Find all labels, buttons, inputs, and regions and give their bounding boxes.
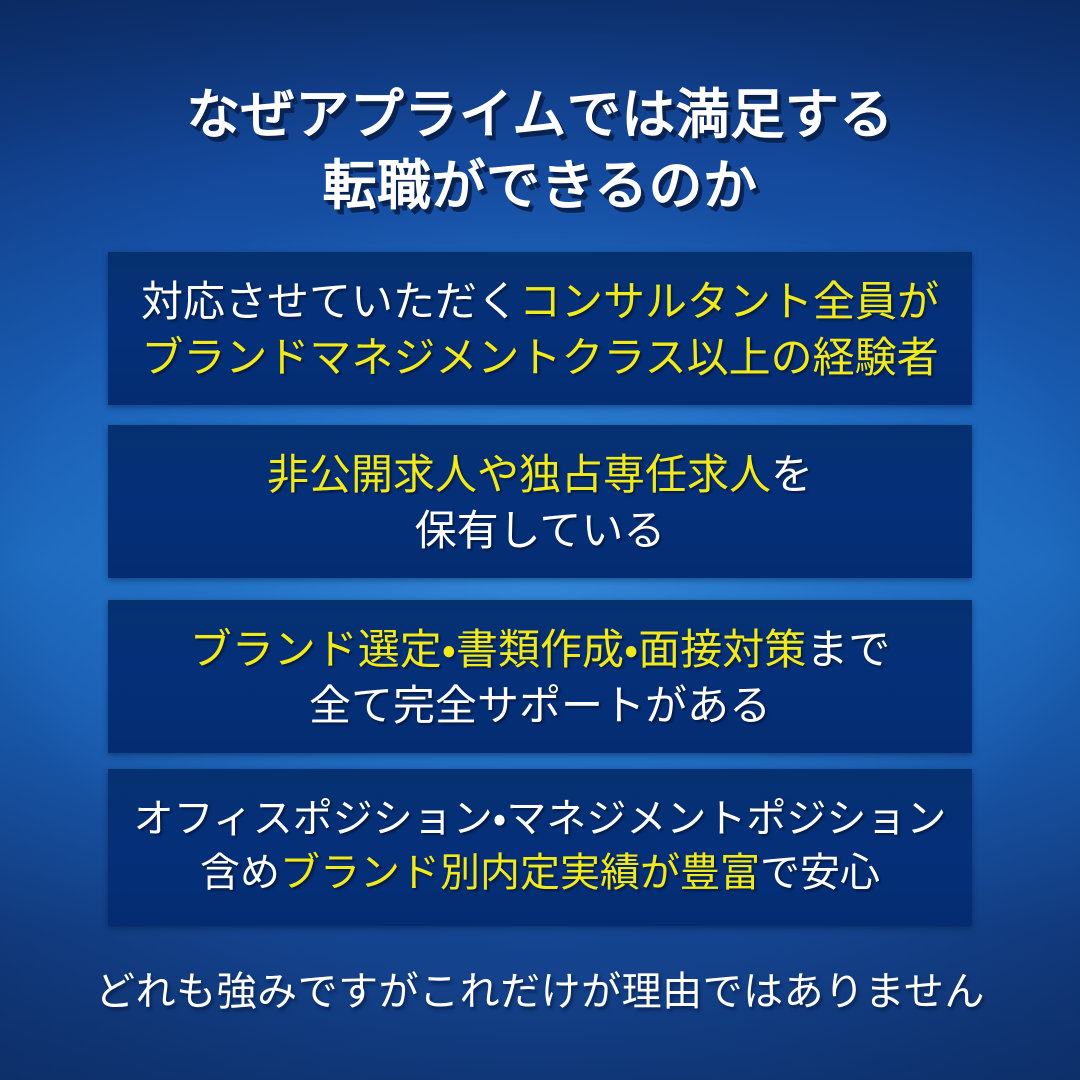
text-highlight: コンサルタント全員が [519,278,939,325]
text-plain: 対応させていただく [141,278,519,325]
benefit-card-3-line-1: ブランド選定・書類作成・面接対策まで [108,622,972,678]
text-highlight: ブランドマネジメントクラス以上の経験者 [141,334,938,381]
benefit-card-1: 対応させていただくコンサルタント全員が ブランドマネジメントクラス以上の経験者 [108,252,972,405]
headline-line-2: 転職ができるのか [0,151,1080,222]
benefit-card-4-line-1: オフィスポジション・マネジメントポジション [108,793,972,847]
text-plain: 含め [200,851,280,895]
benefit-card-4: オフィスポジション・マネジメントポジション 含めブランド別内定実績が豊富で安心 [108,769,972,926]
text-plain: 保有している [415,507,666,554]
benefit-card-list: 対応させていただくコンサルタント全員が ブランドマネジメントクラス以上の経験者 … [108,252,972,926]
benefit-card-2-line-1: 非公開求人や独占専任求人を [108,447,972,503]
benefit-card-3-line-2: 全て完全サポートがある [108,678,972,734]
benefit-card-3: ブランド選定・書類作成・面接対策まで 全て完全サポートがある [108,600,972,753]
text-plain: で安心 [760,851,880,895]
benefit-card-4-line-2: 含めブランド別内定実績が豊富で安心 [108,847,972,901]
headline-line-1: なぜアプライムでは満足する [0,80,1080,151]
text-plain: を [771,451,813,498]
benefit-card-2: 非公開求人や独占専任求人を 保有している [108,425,972,578]
text-plain: オフィスポジション・マネジメントポジション [134,797,947,841]
benefit-card-2-line-2: 保有している [108,503,972,559]
benefit-card-1-line-1: 対応させていただくコンサルタント全員が [108,274,972,330]
page-title: なぜアプライムでは満足する 転職ができるのか [0,80,1080,223]
text-highlight: 非公開求人や独占専任求人 [267,451,771,498]
text-highlight: ブランド別内定実績が豊富 [280,851,760,895]
promo-slide: なぜアプライムでは満足する 転職ができるのか 対応させていただくコンサルタント全… [0,0,1080,1080]
benefit-card-1-line-2: ブランドマネジメントクラス以上の経験者 [108,330,972,386]
text-highlight: ブランド選定・書類作成・面接対策 [190,626,807,673]
text-plain: まで [806,626,890,673]
footnote-text: どれも強みですがこれだけが理由ではありません [0,968,1080,1016]
text-plain: 全て完全サポートがある [309,682,771,729]
